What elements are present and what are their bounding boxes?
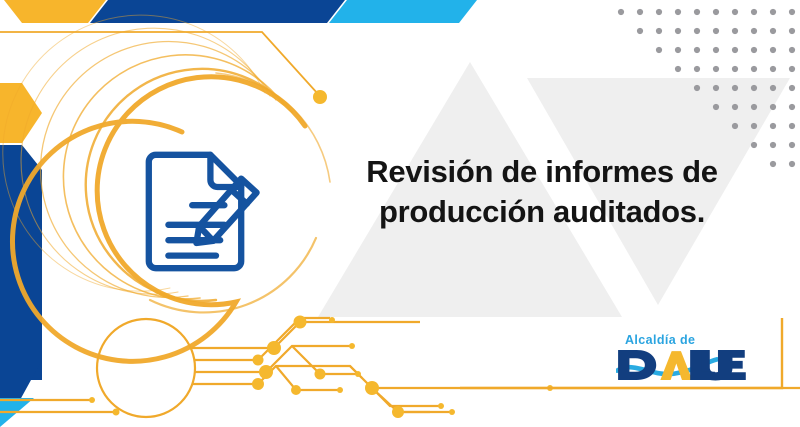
logo-daule-le (688, 348, 750, 382)
document-with-pencil-icon (132, 138, 272, 278)
page-title: Revisión de informes de producción audit… (332, 152, 752, 233)
alcaldia-de-daule-logo: Alcaldía de (616, 333, 756, 389)
logo-tagline: Alcaldía de (625, 333, 695, 347)
promotional-banner: Revisión de informes de producción audit… (0, 0, 800, 427)
